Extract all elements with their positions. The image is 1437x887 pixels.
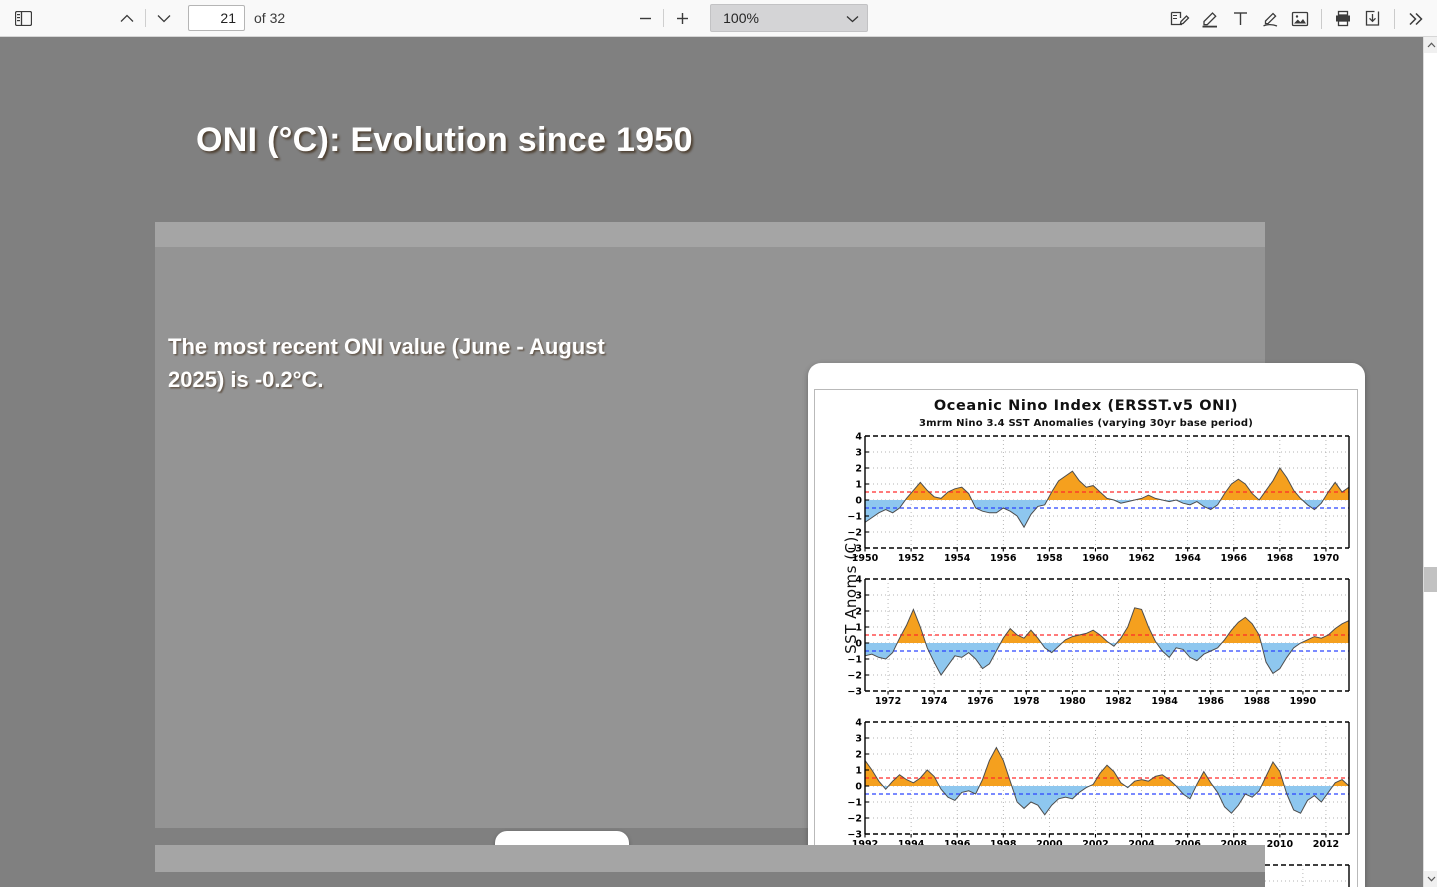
print-icon[interactable] <box>1328 5 1358 33</box>
svg-text:−2: −2 <box>847 670 862 681</box>
minus-icon[interactable] <box>630 4 660 32</box>
svg-text:−2: −2 <box>847 813 862 824</box>
svg-text:−1: −1 <box>847 797 862 808</box>
svg-text:1964: 1964 <box>1174 553 1201 564</box>
svg-text:−2: −2 <box>847 527 862 538</box>
svg-text:1952: 1952 <box>898 553 924 564</box>
svg-text:1950: 1950 <box>852 553 879 564</box>
svg-text:1980: 1980 <box>1059 696 1086 707</box>
save-download-icon[interactable] <box>1358 5 1388 33</box>
chart-title: Oceanic Nino Index (ERSST.v5 ONI) <box>815 398 1357 414</box>
page-title: ONI (°C): Evolution since 1950 <box>196 118 796 163</box>
svg-text:1: 1 <box>855 622 862 633</box>
slide-body-text: The most recent ONI value (June - August… <box>168 330 638 396</box>
svg-text:−1: −1 <box>847 654 862 665</box>
svg-text:1970: 1970 <box>1313 553 1340 564</box>
page-navigation: 21 of 32 <box>112 4 285 32</box>
pdf-toolbar: 21 of 32 100% <box>0 0 1437 37</box>
svg-text:3: 3 <box>855 590 862 601</box>
svg-text:0: 0 <box>855 638 862 649</box>
oni-chart-card: Oceanic Nino Index (ERSST.v5 ONI) 3mrm N… <box>808 363 1365 887</box>
svg-text:4: 4 <box>855 432 862 442</box>
vertical-scrollbar[interactable] <box>1423 37 1437 887</box>
slide-divider-band <box>155 222 1265 247</box>
chevron-up-icon[interactable] <box>1424 37 1437 53</box>
ink-pen-icon[interactable] <box>1255 5 1285 33</box>
toolbar-divider <box>1394 9 1395 29</box>
annotation-tools <box>1165 0 1431 37</box>
svg-text:1974: 1974 <box>921 696 948 707</box>
svg-text:1960: 1960 <box>1082 553 1109 564</box>
toolbar-divider <box>1321 9 1322 29</box>
svg-text:3: 3 <box>855 447 862 458</box>
svg-text:1: 1 <box>855 765 862 776</box>
svg-text:1954: 1954 <box>944 553 971 564</box>
svg-text:3: 3 <box>855 733 862 744</box>
slide-title-band: ONI (°C): Evolution since 1950 <box>155 60 1265 222</box>
chevron-down-icon[interactable] <box>149 4 179 32</box>
next-slide-title-band: Historical El Niño and La Niña Episodes … <box>155 872 1265 887</box>
svg-text:0: 0 <box>855 495 862 506</box>
svg-text:1956: 1956 <box>990 553 1017 564</box>
add-text-icon[interactable] <box>1225 5 1255 33</box>
oni-chart-frame: Oceanic Nino Index (ERSST.v5 ONI) 3mrm N… <box>814 389 1358 887</box>
svg-text:1984: 1984 <box>1151 696 1178 707</box>
toolbar-divider <box>145 9 146 27</box>
plus-icon[interactable] <box>667 4 697 32</box>
chevron-down-icon[interactable] <box>1424 871 1437 887</box>
chevron-down-icon <box>846 10 859 26</box>
more-tools-icon[interactable] <box>1401 5 1431 33</box>
scrollbar-track[interactable] <box>1424 592 1437 871</box>
zoom-level-value: 100% <box>723 10 846 26</box>
zoom-level-select[interactable]: 100% <box>710 4 868 32</box>
slide-divider-band <box>155 845 1265 872</box>
svg-text:2: 2 <box>855 606 862 617</box>
svg-text:2012: 2012 <box>1313 839 1339 850</box>
chart-subtitle: 3mrm Nino 3.4 SST Anomalies (varying 30y… <box>815 418 1357 429</box>
slide-body-band: The most recent ONI value (June - August… <box>155 247 1265 828</box>
pdf-viewer[interactable]: ONI (°C): Evolution since 1950 The most … <box>0 37 1423 887</box>
chevron-up-icon[interactable] <box>112 4 142 32</box>
svg-text:1962: 1962 <box>1128 553 1154 564</box>
svg-text:−3: −3 <box>847 686 862 697</box>
svg-text:4: 4 <box>855 575 862 585</box>
add-image-icon[interactable] <box>1285 5 1315 33</box>
chart-panel: −3−2−10123419721974197619781980198219841… <box>843 575 1353 709</box>
draw-annotate-icon[interactable] <box>1165 5 1195 33</box>
svg-text:1990: 1990 <box>1290 696 1317 707</box>
svg-text:1968: 1968 <box>1267 553 1294 564</box>
svg-text:1988: 1988 <box>1244 696 1271 707</box>
scrollbar-thumb[interactable] <box>1424 567 1437 592</box>
svg-text:2: 2 <box>855 463 862 474</box>
highlight-icon[interactable] <box>1195 5 1225 33</box>
slide-page-21: ONI (°C): Evolution since 1950 The most … <box>155 60 1265 828</box>
svg-text:0: 0 <box>855 781 862 792</box>
svg-text:2010: 2010 <box>1267 839 1294 850</box>
svg-text:4: 4 <box>855 718 862 728</box>
svg-text:1976: 1976 <box>967 696 994 707</box>
zoom-controls: 100% <box>630 4 868 32</box>
svg-text:1982: 1982 <box>1105 696 1131 707</box>
svg-text:1966: 1966 <box>1221 553 1248 564</box>
page-total-label: of 32 <box>254 10 285 26</box>
svg-text:1972: 1972 <box>875 696 901 707</box>
svg-text:1958: 1958 <box>1036 553 1063 564</box>
slide-page-22: Historical El Niño and La Niña Episodes … <box>155 845 1265 887</box>
svg-text:−1: −1 <box>847 511 862 522</box>
chart-panel: −3−2−10123419501952195419561958196019621… <box>843 432 1353 566</box>
svg-text:1986: 1986 <box>1197 696 1224 707</box>
chart-panel: −3−2−10123419921994199619982000200220042… <box>843 718 1353 852</box>
scrollbar-track[interactable] <box>1424 53 1437 567</box>
svg-text:2: 2 <box>855 749 862 760</box>
svg-text:1: 1 <box>855 479 862 490</box>
svg-text:1978: 1978 <box>1013 696 1040 707</box>
toolbar-divider <box>663 9 664 27</box>
sidebar-panel-icon[interactable] <box>8 4 38 32</box>
page-number-input[interactable]: 21 <box>188 5 245 31</box>
